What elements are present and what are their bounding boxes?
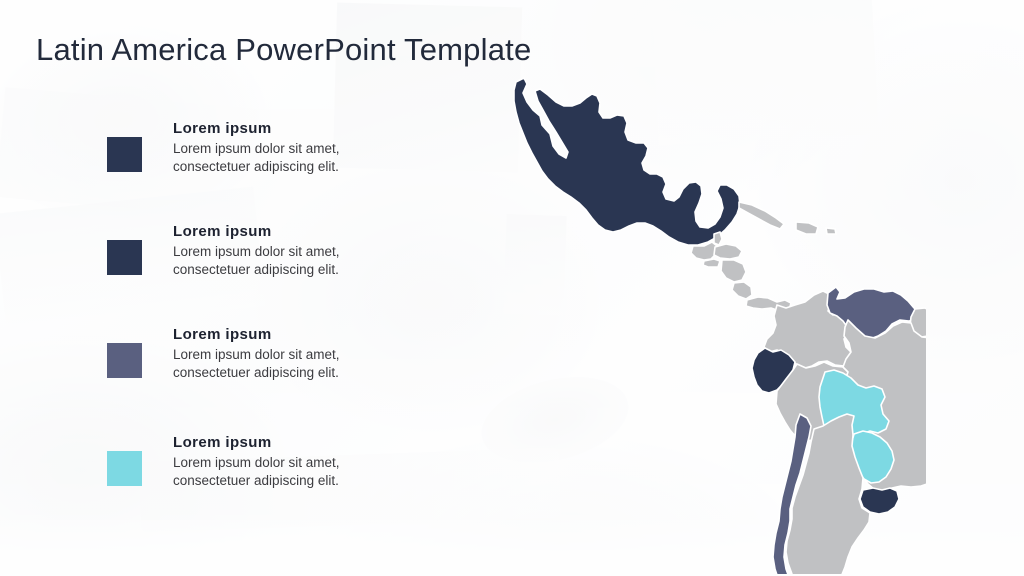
- map-country-honduras[interactable]: [714, 244, 742, 259]
- map-country-cuba[interactable]: [739, 202, 784, 229]
- legend-item-title: Lorem ipsum: [173, 120, 423, 137]
- legend-item-title: Lorem ipsum: [173, 434, 423, 451]
- legend-item-title: Lorem ipsum: [173, 326, 423, 343]
- legend-text-block: Lorem ipsum Lorem ipsum dolor sit amet, …: [173, 120, 423, 176]
- legend-item-body: Lorem ipsum dolor sit amet, consectetuer…: [173, 346, 423, 382]
- legend-item-body: Lorem ipsum dolor sit amet, consectetuer…: [173, 243, 423, 279]
- legend-item-body: Lorem ipsum dolor sit amet, consectetuer…: [173, 140, 423, 176]
- list-item[interactable]: Lorem ipsum Lorem ipsum dolor sit amet, …: [107, 429, 427, 532]
- legend-item-title: Lorem ipsum: [173, 223, 423, 240]
- map-country-mexico[interactable]: [514, 78, 740, 245]
- page-title: Latin America PowerPoint Template: [36, 32, 531, 68]
- map-country-costa-rica[interactable]: [732, 282, 752, 299]
- cyan-swatch: [107, 451, 142, 486]
- map-country-puerto-rico[interactable]: [826, 228, 836, 234]
- legend-list: Lorem ipsum Lorem ipsum dolor sit amet, …: [107, 120, 427, 532]
- legend-text-block: Lorem ipsum Lorem ipsum dolor sit amet, …: [173, 223, 423, 279]
- legend-text-block: Lorem ipsum Lorem ipsum dolor sit amet, …: [173, 434, 423, 490]
- latin-america-map: [496, 62, 926, 574]
- legend-item-body: Lorem ipsum dolor sit amet, consectetuer…: [173, 454, 423, 490]
- navy-swatch: [107, 240, 142, 275]
- slate-swatch: [107, 343, 142, 378]
- map-country-nicaragua[interactable]: [721, 260, 746, 282]
- map-country-el-salvador[interactable]: [703, 259, 720, 267]
- list-item[interactable]: Lorem ipsum Lorem ipsum dolor sit amet, …: [107, 120, 427, 223]
- map-country-belize[interactable]: [714, 232, 722, 245]
- map-country-hispaniola[interactable]: [796, 222, 818, 234]
- legend-text-block: Lorem ipsum Lorem ipsum dolor sit amet, …: [173, 326, 423, 382]
- list-item[interactable]: Lorem ipsum Lorem ipsum dolor sit amet, …: [107, 223, 427, 326]
- list-item[interactable]: Lorem ipsum Lorem ipsum dolor sit amet, …: [107, 326, 427, 429]
- map-svg: [496, 62, 926, 574]
- navy-swatch: [107, 137, 142, 172]
